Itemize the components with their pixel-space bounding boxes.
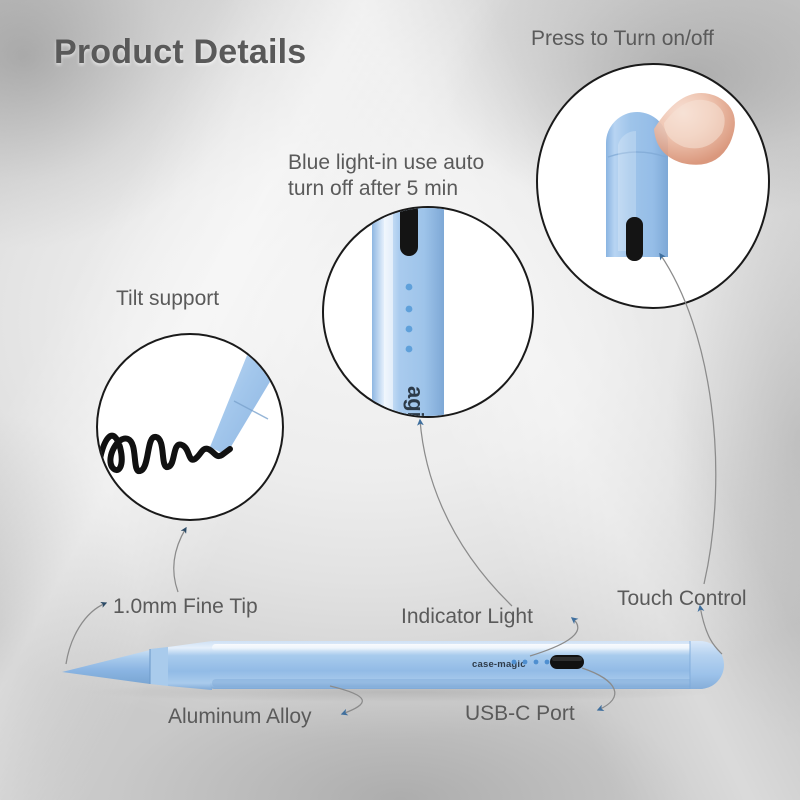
callout-label-tilt-support: Tilt support (116, 286, 219, 312)
callout-label-usb-c-port: USB-C Port (465, 701, 575, 727)
callout-label-aluminum-alloy: Aluminum Alloy (168, 704, 312, 730)
connector-indicator-to-dots (530, 618, 578, 656)
connector-alum-to-barrel (330, 686, 362, 714)
callout-label-indicator-light: Indicator Light (401, 604, 533, 630)
connector-finetip-to-circle (174, 528, 186, 592)
connector-circle-to-indicator (420, 420, 512, 606)
callout-connectors (0, 0, 800, 800)
connector-finetip-to-pen (66, 603, 106, 664)
callout-label-touch-control: Touch Control (617, 586, 747, 612)
connector-touch-to-cap (700, 606, 722, 654)
connector-circle-to-touch (660, 254, 716, 584)
callout-label-fine-tip: 1.0mm Fine Tip (113, 594, 258, 620)
connector-usbc-to-port (582, 668, 615, 710)
callout-label-blue-light: Blue light-in use auto turn off after 5 … (288, 150, 484, 202)
callout-label-press-to-turn: Press to Turn on/off (531, 26, 714, 52)
infographic-canvas: Product Details (0, 0, 800, 800)
